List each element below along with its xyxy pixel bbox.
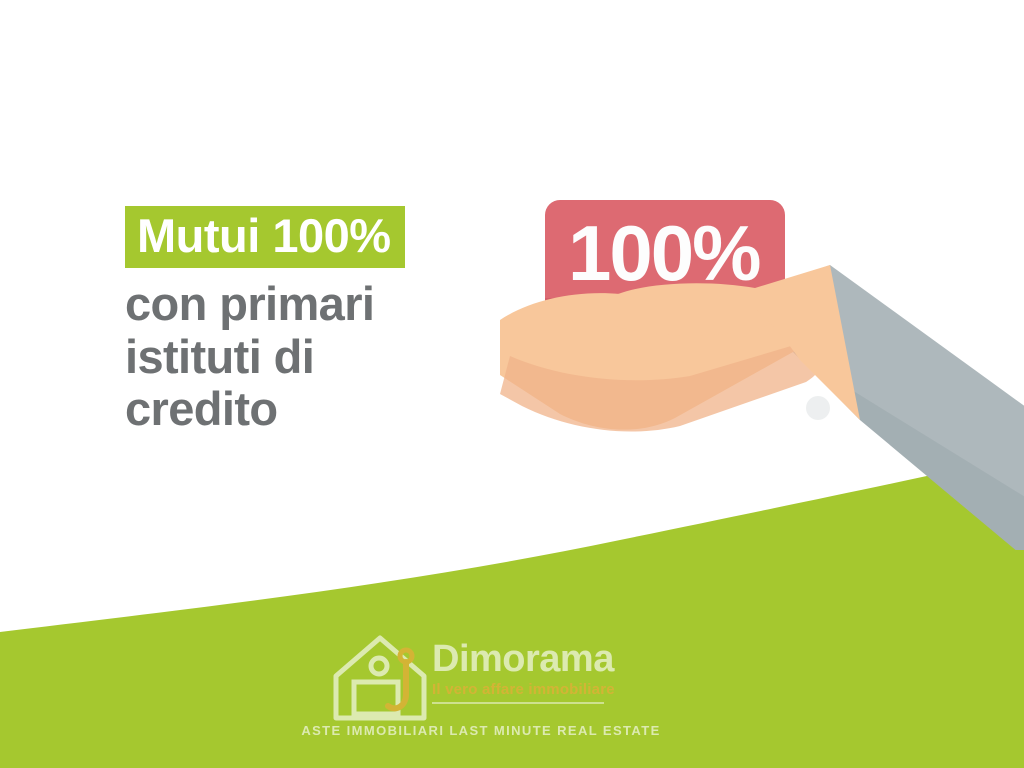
brand-divider (432, 702, 604, 704)
headline-block: Mutui 100% con primari istituti di credi… (125, 206, 485, 436)
brand-logo-block[interactable]: Dimorama Il vero affare immobiliare ASTE… (292, 624, 670, 758)
headline-highlight: Mutui 100% (125, 206, 405, 268)
brand-caption: ASTE IMMOBILIARI LAST MINUTE REAL ESTATE (292, 724, 670, 737)
headline-line-3: credito (125, 383, 485, 436)
brand-tagline: Il vero affare immobiliare (432, 682, 670, 697)
house-logo-icon (328, 632, 432, 724)
brand-name: Dimorama (432, 640, 670, 678)
brand-logo-row: Dimorama Il vero affare immobiliare (292, 624, 670, 728)
badge-percent-label: 100% (568, 214, 760, 292)
brand-logo-wordmark: Dimorama Il vero affare immobiliare (432, 640, 670, 704)
headline-highlight-text: Mutui 100% (137, 212, 391, 259)
headline-line-1: con primari (125, 278, 485, 331)
headline-line-2: istituti di (125, 331, 485, 384)
headline-subtext: con primari istituti di credito (125, 278, 485, 436)
promo-banner: Mutui 100% con primari istituti di credi… (0, 0, 1024, 768)
cuff-button-icon (806, 396, 830, 420)
